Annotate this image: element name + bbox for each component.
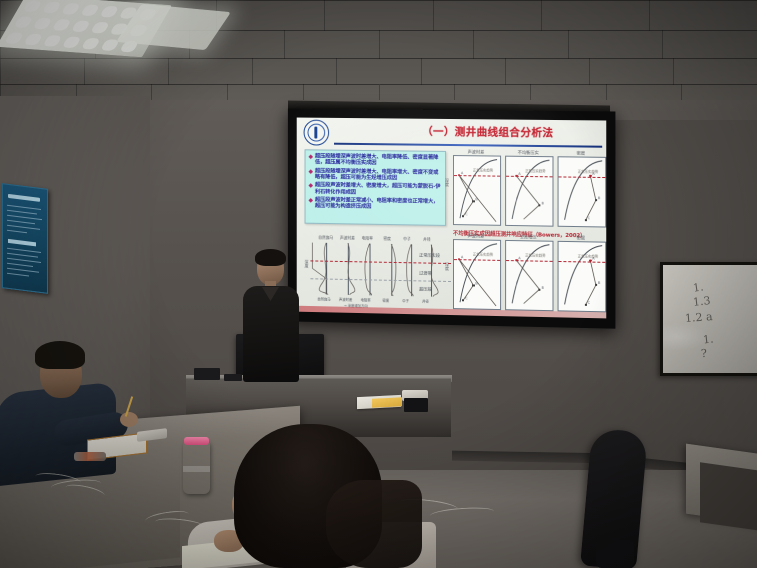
keys-on-table [74,452,106,461]
ceiling-tile [84,58,169,85]
chart-point-label: B [541,201,543,205]
curve-label: 正常压实趋势 [520,168,550,173]
chart-point-label: B [598,281,600,285]
document-folder [372,397,402,408]
chart-point-label: B [475,197,477,201]
ceiling-tile [473,30,569,59]
bullet-item: ◆ 超压段随埋深声波时差增大、电阻率增大、密度不变或略有降低，超压可能为生烃增压… [308,168,442,182]
ceiling-tile [421,58,506,85]
chart-point-label: A [461,171,463,175]
ceiling-tile [252,58,337,85]
chart-point-label: C [465,296,467,300]
university-emblem-icon [304,120,330,146]
poster-subheading [8,239,36,246]
curve-label: 正常压实趋势 [573,253,603,259]
office-chair-base [596,540,634,568]
whiteboard: 1. 1.3 1.2 a 1. ? [660,262,757,376]
ceiling-tile [284,30,380,59]
ceiling-tile [505,58,590,85]
slide-bullet-box: ◆ 超压段随埋深声波时差增大、电阻率降低、密度显著降低，超压属不均衡压实成因 ◆… [305,149,446,226]
chart-point-label: A [518,256,520,260]
attendee-taking-notes [2,338,152,478]
chart-panel: 正常压实趋势ABC [558,241,607,313]
diamond-bullet-icon: ◆ [308,168,313,176]
curve-label: 正常压实趋势 [468,167,498,172]
ceiling-tile [216,0,325,31]
attendee-foreground-with-pen [196,424,426,568]
attendee-left-hair [35,341,85,369]
chart-point-label: A [461,255,463,259]
desk-equipment-box [194,368,220,380]
ceiling-tile [0,58,85,85]
diamond-bullet-icon: ◆ [308,182,313,190]
chart-point-label: B [475,281,477,285]
log-zone-label: 正常压实段 [419,252,440,258]
ceiling-tile [541,0,650,31]
diamond-bullet-icon: ◆ [308,153,313,161]
log-zone-label: 过渡带 [419,270,432,276]
ceiling-tile [568,30,664,59]
bullet-item: ◆ 超压段声波时差增大、密度增大，超压可能为蒙脱石-伊利石转化作用成因 [308,182,442,196]
chart-point-label: B [598,196,600,200]
slide-title: （一）测井曲线组合分析法 [375,123,601,140]
log-depth-axis-label: 深度 [305,260,311,268]
curve-label: 正常压实趋势 [520,252,550,258]
attendee-left-hand [120,412,138,427]
chart-point [538,288,540,290]
well-log-panel: 自然伽马自然伽马声波时差声波时差电阻率电阻率密度密度中子中子井径井径深度正常压实… [305,235,451,309]
poster-heading [8,194,40,202]
ceiling-tile [662,30,757,59]
chart-point-label: C [588,216,590,220]
desk-box-right [404,398,428,412]
chart-point-label: B [541,285,543,289]
bullet-item: ◆ 超压段随埋深声波时差增大、电阻率降低、密度显著降低，超压属不均衡压实成因 [308,153,442,167]
chart-point [595,284,597,286]
presentation-slide: （一）测井曲线组合分析法 ◆ 超压段随埋深声波时差增大、电阻率降低、密度显著降低… [297,118,607,319]
chart-panel: 正常压实趋势ABC [453,239,501,310]
chart-point [585,219,587,221]
title-divider [334,143,602,148]
curve-label: 正常压实趋势 [573,168,603,173]
chart-point [538,204,540,206]
ceiling-tile [673,58,757,85]
chart-point [585,304,587,306]
bullet-text-1: 超压段随埋深声波时差增大、电阻率增大、密度不变或略有降低，超压可能为生烃增压成因 [315,168,442,182]
chart-y-axis-label: 深度 [445,179,452,187]
chart-panel: 正常压实趋势ABC [453,155,501,226]
diamond-bullet-icon: ◆ [308,197,313,205]
table-cables [35,470,155,496]
ceiling-tile [324,0,433,31]
bullet-text-3: 超压段声波时差正常减小、电阻率和密度也正常增大，超压可能为构造挤压成因 [315,197,442,211]
chart-panels-top: 声波时差正常压实趋势ABC不均衡压实正常压实趋势AB密度正常压实趋势ABC深度 [297,118,607,121]
chart-point [462,215,464,217]
chart-point-label: A [592,171,594,175]
ceiling-tile [379,30,475,59]
lecture-room-photo: 1. 1.3 1.2 a 1. ? （一）测井曲线组合分析法 ◆ 超压段随埋深声… [0,0,757,568]
chart-point-label: A [592,256,594,260]
whiteboard-glare [663,323,709,351]
ceiling-tile [589,58,674,85]
presenter-hair [255,249,286,266]
bullet-text-0: 超压段随埋深声波时差增大、电阻率降低、密度显著降低，超压属不均衡压实成因 [315,153,442,167]
chart-point [462,299,464,301]
log-zone-label: 超压段 [419,286,432,292]
attendee-front-hair-strands [326,480,422,568]
presenter-standing-at-podium [243,252,299,382]
ceiling-tile [433,0,542,31]
curve-label: 正常压实趋势 [468,251,498,257]
chart-panel: 正常压实趋势ABC [558,156,607,227]
chart-point-label: A [518,172,520,176]
bullet-text-2: 超压段声波时差增大、密度增大，超压可能为蒙脱石-伊利石转化作用成因 [315,183,442,197]
chart-panel: 正常压实趋势AB [505,156,553,227]
bullet-item: ◆ 超压段声波时差正常减小、电阻率和密度也正常增大，超压可能为构造挤压成因 [308,197,442,211]
chart-point [472,200,474,202]
presenter-body [243,286,299,382]
ceiling-tile [336,58,421,85]
chart-point [472,284,474,286]
chart-point [595,199,597,201]
ceiling-tile [168,58,253,85]
whiteboard-ink-1: 1.3 [692,294,711,309]
ceiling-tile [649,0,757,31]
projection-screen: （一）测井曲线组合分析法 ◆ 超压段随埋深声波时差增大、电阻率降低、密度显著降低… [288,109,616,329]
chart-panels-bottom: 声波时差正常压实趋势ABC生烃增压正常压实趋势AB密度正常压实趋势ABC深度 [297,118,607,121]
chart-panel: 正常压实趋势AB [505,240,553,311]
chart-point-label: C [465,212,467,216]
chart-point-label: C [588,301,590,305]
blue-notice-poster [2,183,48,294]
desk-equipment-small [224,374,242,381]
whiteboard-ink-0: 1. [692,280,704,294]
